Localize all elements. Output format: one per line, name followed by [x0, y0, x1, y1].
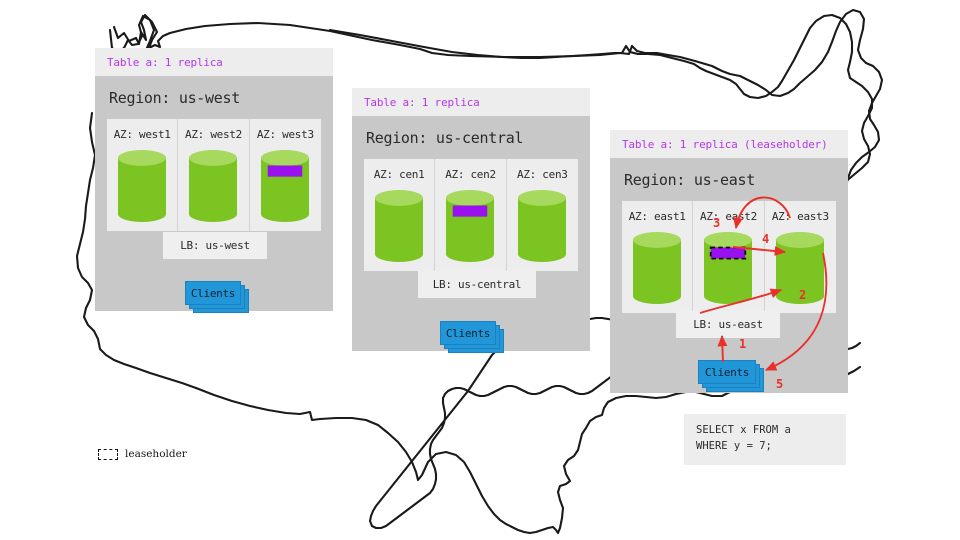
az-cell-cen1[interactable]: AZ: cen1 — [364, 159, 435, 271]
az-label: AZ: cen2 — [445, 168, 496, 181]
cylinder-body — [518, 198, 566, 262]
load-balancer-us-central[interactable]: LB: us-central — [418, 271, 536, 298]
az-label: AZ: west2 — [185, 128, 242, 141]
step-number-2: 2 — [799, 288, 806, 302]
diagram-canvas: Table a: 1 replica Region: us-west AZ: w… — [0, 0, 960, 540]
panel-header-us-west: Table a: 1 replica — [95, 48, 333, 76]
az-row: AZ: cen1 AZ: cen2 AZ: cen3 — [364, 159, 578, 271]
az-label: AZ: west1 — [114, 128, 171, 141]
az-cell-east1[interactable]: AZ: east1 — [622, 201, 693, 313]
panel-header-us-central: Table a: 1 replica — [352, 88, 590, 116]
cylinder-top — [633, 232, 681, 248]
cylinder-east1 — [633, 232, 681, 304]
cylinder-west1 — [118, 150, 166, 222]
region-title: Region: us-central — [366, 129, 578, 147]
cylinder-west3 — [261, 150, 309, 222]
step-number-4: 4 — [762, 232, 769, 246]
cylinder-top — [189, 150, 237, 166]
cylinder-body — [118, 158, 166, 222]
panel-body-us-east: Region: us-east AZ: east1 AZ: east2 AZ: … — [610, 158, 848, 393]
replica-cylinder[interactable] — [446, 190, 494, 262]
az-cell-cen2[interactable]: AZ: cen2 — [435, 159, 506, 271]
az-cell-cen3[interactable]: AZ: cen3 — [507, 159, 578, 271]
load-balancer-us-east[interactable]: LB: us-east — [676, 311, 780, 338]
sql-query-box: SELECT x FROM a WHERE y = 7; — [684, 414, 846, 465]
az-cell-west1[interactable]: AZ: west1 — [107, 119, 178, 231]
az-label: AZ: east1 — [629, 210, 686, 223]
clients-stack-us-central[interactable]: Clients — [440, 321, 506, 355]
replica-cylinder[interactable] — [518, 190, 566, 262]
cylinder-top — [704, 232, 752, 248]
replica-cylinder[interactable] — [189, 150, 237, 222]
az-label: AZ: cen3 — [517, 168, 568, 181]
replica-marker — [453, 205, 488, 216]
cylinder-cen3 — [518, 190, 566, 262]
region-panel-us-central: Table a: 1 replica Region: us-central AZ… — [352, 88, 590, 351]
az-label: AZ: west3 — [257, 128, 314, 141]
cylinder-top — [118, 150, 166, 166]
replica-cylinder[interactable] — [704, 232, 752, 304]
panel-body-us-central: Region: us-central AZ: cen1 AZ: cen2 AZ:… — [352, 116, 590, 351]
az-label: AZ: east3 — [772, 210, 829, 223]
az-cell-west2[interactable]: AZ: west2 — [178, 119, 249, 231]
az-label: AZ: cen1 — [374, 168, 425, 181]
step-number-5: 5 — [776, 377, 783, 391]
cylinder-cen2 — [446, 190, 494, 262]
legend: leaseholder — [98, 448, 187, 460]
cylinder-body — [375, 198, 423, 262]
az-row: AZ: west1 AZ: west2 AZ: west3 — [107, 119, 321, 231]
step-number-3: 3 — [713, 216, 720, 230]
replica-cylinder[interactable] — [633, 232, 681, 304]
az-label: AZ: east2 — [700, 210, 757, 223]
panel-body-us-west: Region: us-west AZ: west1 AZ: west2 AZ: … — [95, 76, 333, 311]
region-panel-us-east: Table a: 1 replica (leaseholder) Region:… — [610, 130, 848, 393]
clients-stack-us-east[interactable]: Clients — [698, 360, 766, 394]
cylinder-top — [446, 190, 494, 206]
replica-cylinder[interactable] — [261, 150, 309, 222]
az-cell-east2[interactable]: AZ: east2 — [693, 201, 764, 313]
cylinder-body — [189, 158, 237, 222]
cylinder-top — [261, 150, 309, 166]
clients-card-front[interactable]: Clients — [440, 321, 496, 345]
cylinder-top — [776, 232, 824, 248]
replica-marker — [268, 165, 303, 176]
load-balancer-us-west[interactable]: LB: us-west — [163, 232, 267, 259]
replica-marker — [711, 247, 746, 258]
cylinder-body — [633, 240, 681, 304]
region-title: Region: us-east — [624, 171, 836, 189]
cylinder-west2 — [189, 150, 237, 222]
clients-card-front[interactable]: Clients — [185, 281, 241, 305]
replica-cylinder[interactable] — [375, 190, 423, 262]
cylinder-cen1 — [375, 190, 423, 262]
panel-header-us-east: Table a: 1 replica (leaseholder) — [610, 130, 848, 158]
cylinder-east2 — [704, 232, 752, 304]
step-number-1: 1 — [739, 337, 746, 351]
legend-label: leaseholder — [125, 448, 187, 460]
cylinder-top — [518, 190, 566, 206]
az-cell-west3[interactable]: AZ: west3 — [250, 119, 321, 231]
region-title: Region: us-west — [109, 89, 321, 107]
clients-stack-us-west[interactable]: Clients — [185, 281, 251, 315]
replica-cylinder[interactable] — [118, 150, 166, 222]
leaseholder-swatch-icon — [98, 449, 118, 460]
cylinder-top — [375, 190, 423, 206]
clients-card-front[interactable]: Clients — [698, 360, 756, 384]
region-panel-us-west: Table a: 1 replica Region: us-west AZ: w… — [95, 48, 333, 311]
